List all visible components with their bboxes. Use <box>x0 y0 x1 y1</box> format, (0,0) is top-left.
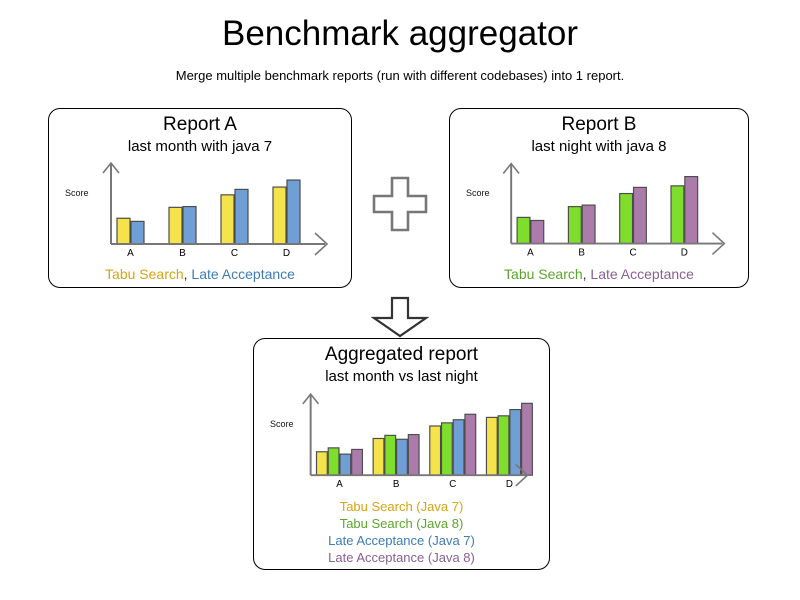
legend-report-a: Tabu Search, Late Acceptance <box>49 266 351 282</box>
legend-aggregated: Tabu Search (Java 7) Tabu Search (Java 8… <box>254 498 549 566</box>
chart-report-a: ABCD Score <box>49 156 351 266</box>
legend-item-tabu-search: Tabu Search <box>105 266 184 282</box>
svg-text:A: A <box>127 248 134 259</box>
svg-text:A: A <box>336 479 343 490</box>
svg-text:D: D <box>681 248 688 259</box>
chart-report-a-y-axis-label: Score <box>65 188 89 198</box>
svg-text:B: B <box>578 248 585 259</box>
chart-report-b: ABCD Score <box>450 156 748 266</box>
svg-text:D: D <box>283 248 290 259</box>
panel-report-a-subtitle: last month with java 7 <box>49 137 351 157</box>
chart-report-b-y-axis-label: Score <box>466 188 490 198</box>
svg-text:C: C <box>231 248 238 259</box>
svg-text:A: A <box>527 248 534 259</box>
svg-text:B: B <box>393 479 400 490</box>
panel-aggregated-report: Aggregated report last month vs last nig… <box>253 338 550 570</box>
legend-item-late-acceptance: Late Acceptance <box>191 266 295 282</box>
legend-item-tabu-search: Tabu Search <box>504 266 583 282</box>
panel-report-a-title: Report A <box>49 113 351 137</box>
down-arrow-icon <box>371 296 429 338</box>
svg-text:B: B <box>179 248 186 259</box>
chart-report-a-bars <box>117 180 300 244</box>
svg-text:C: C <box>449 479 456 490</box>
legend-item-late-acceptance-java8: Late Acceptance (Java 8) <box>254 549 549 566</box>
svg-text:D: D <box>506 479 513 490</box>
chart-aggregated-tick-labels: ABCD <box>336 479 513 490</box>
chart-report-b-svg: ABCD <box>450 156 746 266</box>
legend-item-late-acceptance: Late Acceptance <box>590 266 694 282</box>
legend-item-tabu-search-java8: Tabu Search (Java 8) <box>254 515 549 532</box>
panel-aggregated-subtitle: last month vs last night <box>254 367 549 387</box>
panel-report-b-subtitle: last night with java 8 <box>450 137 748 157</box>
chart-report-b-tick-labels: ABCD <box>527 248 688 259</box>
panel-report-b-title: Report B <box>450 113 748 137</box>
legend-item-tabu-search-java7: Tabu Search (Java 7) <box>254 498 549 515</box>
panel-aggregated-title: Aggregated report <box>254 343 549 367</box>
chart-report-a-tick-labels: ABCD <box>127 248 290 259</box>
plus-icon <box>368 172 432 236</box>
chart-report-b-bars <box>517 177 698 244</box>
chart-report-a-svg: ABCD <box>49 156 349 266</box>
chart-aggregated: ABCD Score <box>254 386 549 498</box>
panel-report-a: Report A last month with java 7 ABCD Sco… <box>48 108 352 288</box>
panel-report-b: Report B last night with java 8 ABCD Sco… <box>449 108 749 288</box>
chart-aggregated-svg: ABCD <box>254 386 547 498</box>
svg-text:C: C <box>629 248 636 259</box>
chart-aggregated-y-axis-label: Score <box>270 419 294 429</box>
page-title: Benchmark aggregator <box>0 14 800 54</box>
legend-item-late-acceptance-java7: Late Acceptance (Java 7) <box>254 532 549 549</box>
page-subtitle: Merge multiple benchmark reports (run wi… <box>0 68 800 83</box>
chart-aggregated-bars <box>317 404 533 476</box>
legend-report-b: Tabu Search, Late Acceptance <box>450 266 748 282</box>
